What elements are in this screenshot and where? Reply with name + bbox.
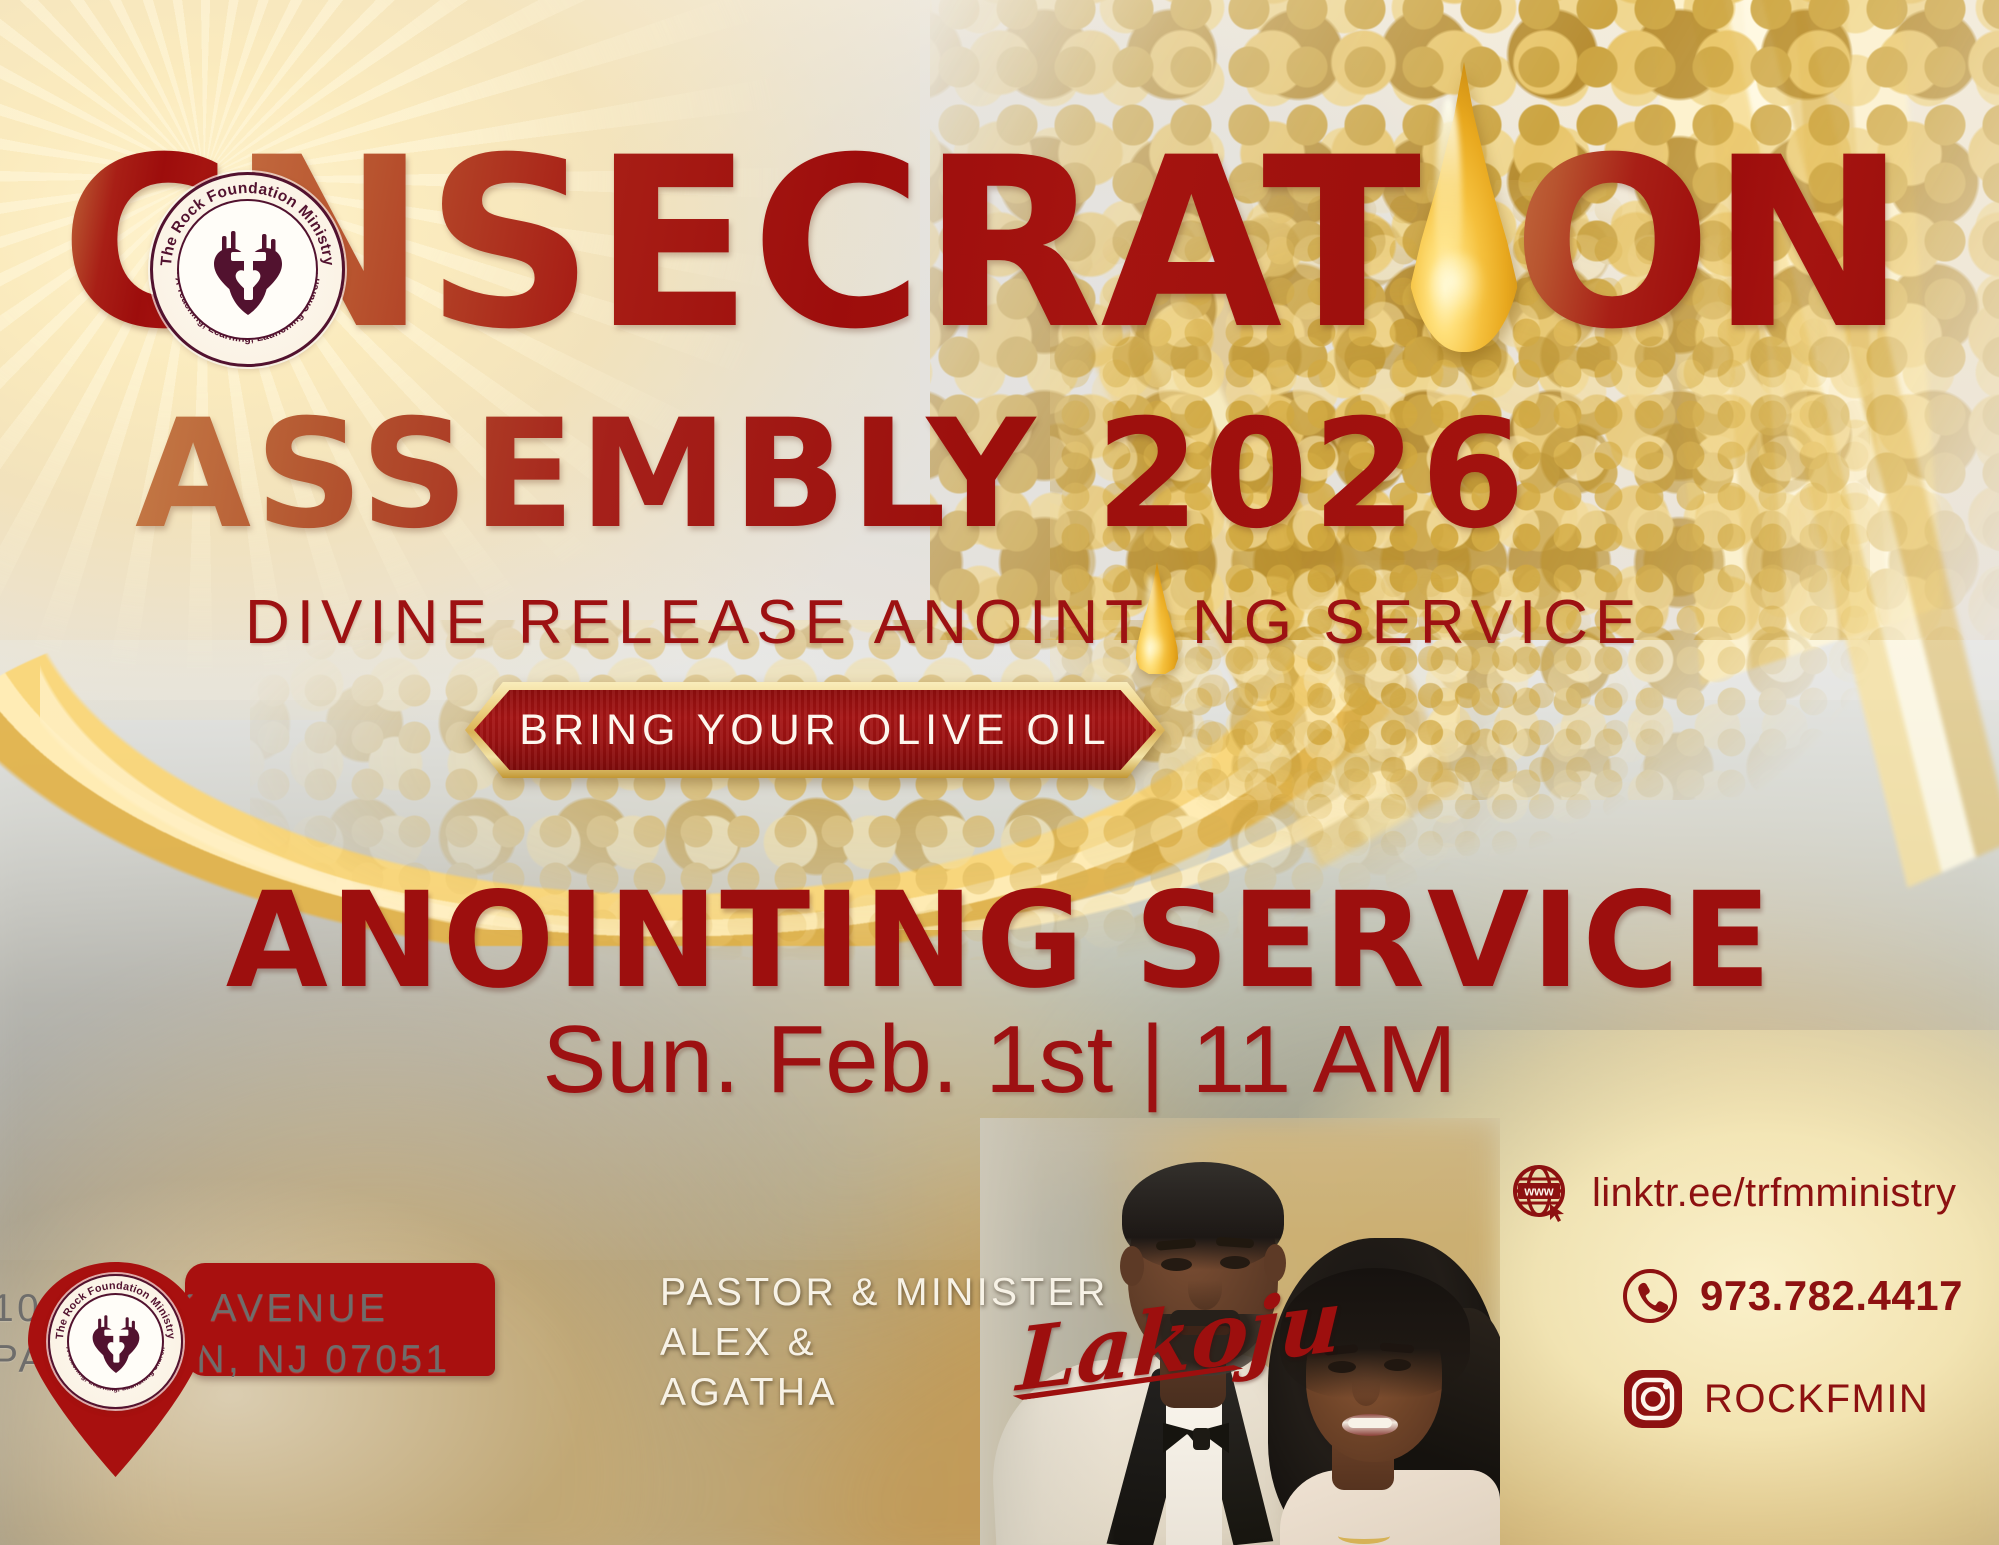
bring-olive-oil-banner: BRING YOUR OLIVE OIL	[465, 682, 1165, 778]
pastors-role: PASTOR & MINISTER	[660, 1268, 1080, 1318]
subtitle-part-a: DIVINE RELEASE ANOINT	[245, 588, 1150, 657]
event-datetime: Sun. Feb. 1st | 11 AM	[0, 1010, 1999, 1110]
heart-cross-emblem	[200, 222, 296, 318]
event-title: ANOINTING SERVICE	[0, 875, 1999, 1007]
heart-cross-emblem	[83, 1309, 149, 1375]
website-url[interactable]: linktr.ee/trfmministry	[1592, 1171, 1956, 1216]
banner-red-body: BRING YOUR OLIVE OIL	[474, 690, 1156, 770]
subtitle-part-b: NG SERVICE	[1192, 588, 1643, 657]
contact-row-phone[interactable]: 973.782.4417	[1620, 1266, 1980, 1326]
title-segment-b: NSECRAT	[230, 140, 1420, 350]
svg-text:www: www	[1523, 1185, 1553, 1199]
banner-label: BRING YOUR OLIVE OIL	[519, 706, 1110, 755]
subtitle-divine-release: DIVINE RELEASE ANOINTNG SERVICE	[245, 590, 1945, 656]
title-segment-c: ON	[1512, 140, 1904, 350]
title-assembly-year: ASSEMBLY 2026	[135, 400, 1935, 550]
contact-row-instagram[interactable]: ROCKFMIN	[1622, 1368, 1980, 1430]
phone-icon	[1620, 1266, 1680, 1326]
map-pin-logo: The Rock Foundation Ministry • A Teachin…	[28, 1262, 203, 1477]
globe-www-icon: www	[1510, 1162, 1572, 1224]
contact-block: www linktr.ee/trfmministry 973.782.4417	[1510, 1162, 1980, 1430]
phone-number[interactable]: 973.782.4417	[1700, 1272, 1963, 1320]
church-seal-logo: The Rock Foundation Ministry • A Teachin…	[150, 172, 345, 367]
contact-row-website[interactable]: www linktr.ee/trfmministry	[1510, 1162, 1980, 1224]
instagram-icon	[1622, 1368, 1684, 1430]
instagram-handle[interactable]: ROCKFMIN	[1704, 1377, 1929, 1422]
flyer-canvas: CNSECRATON ASSEMBLY 2026 DIVINE RELEASE …	[0, 0, 1999, 1545]
